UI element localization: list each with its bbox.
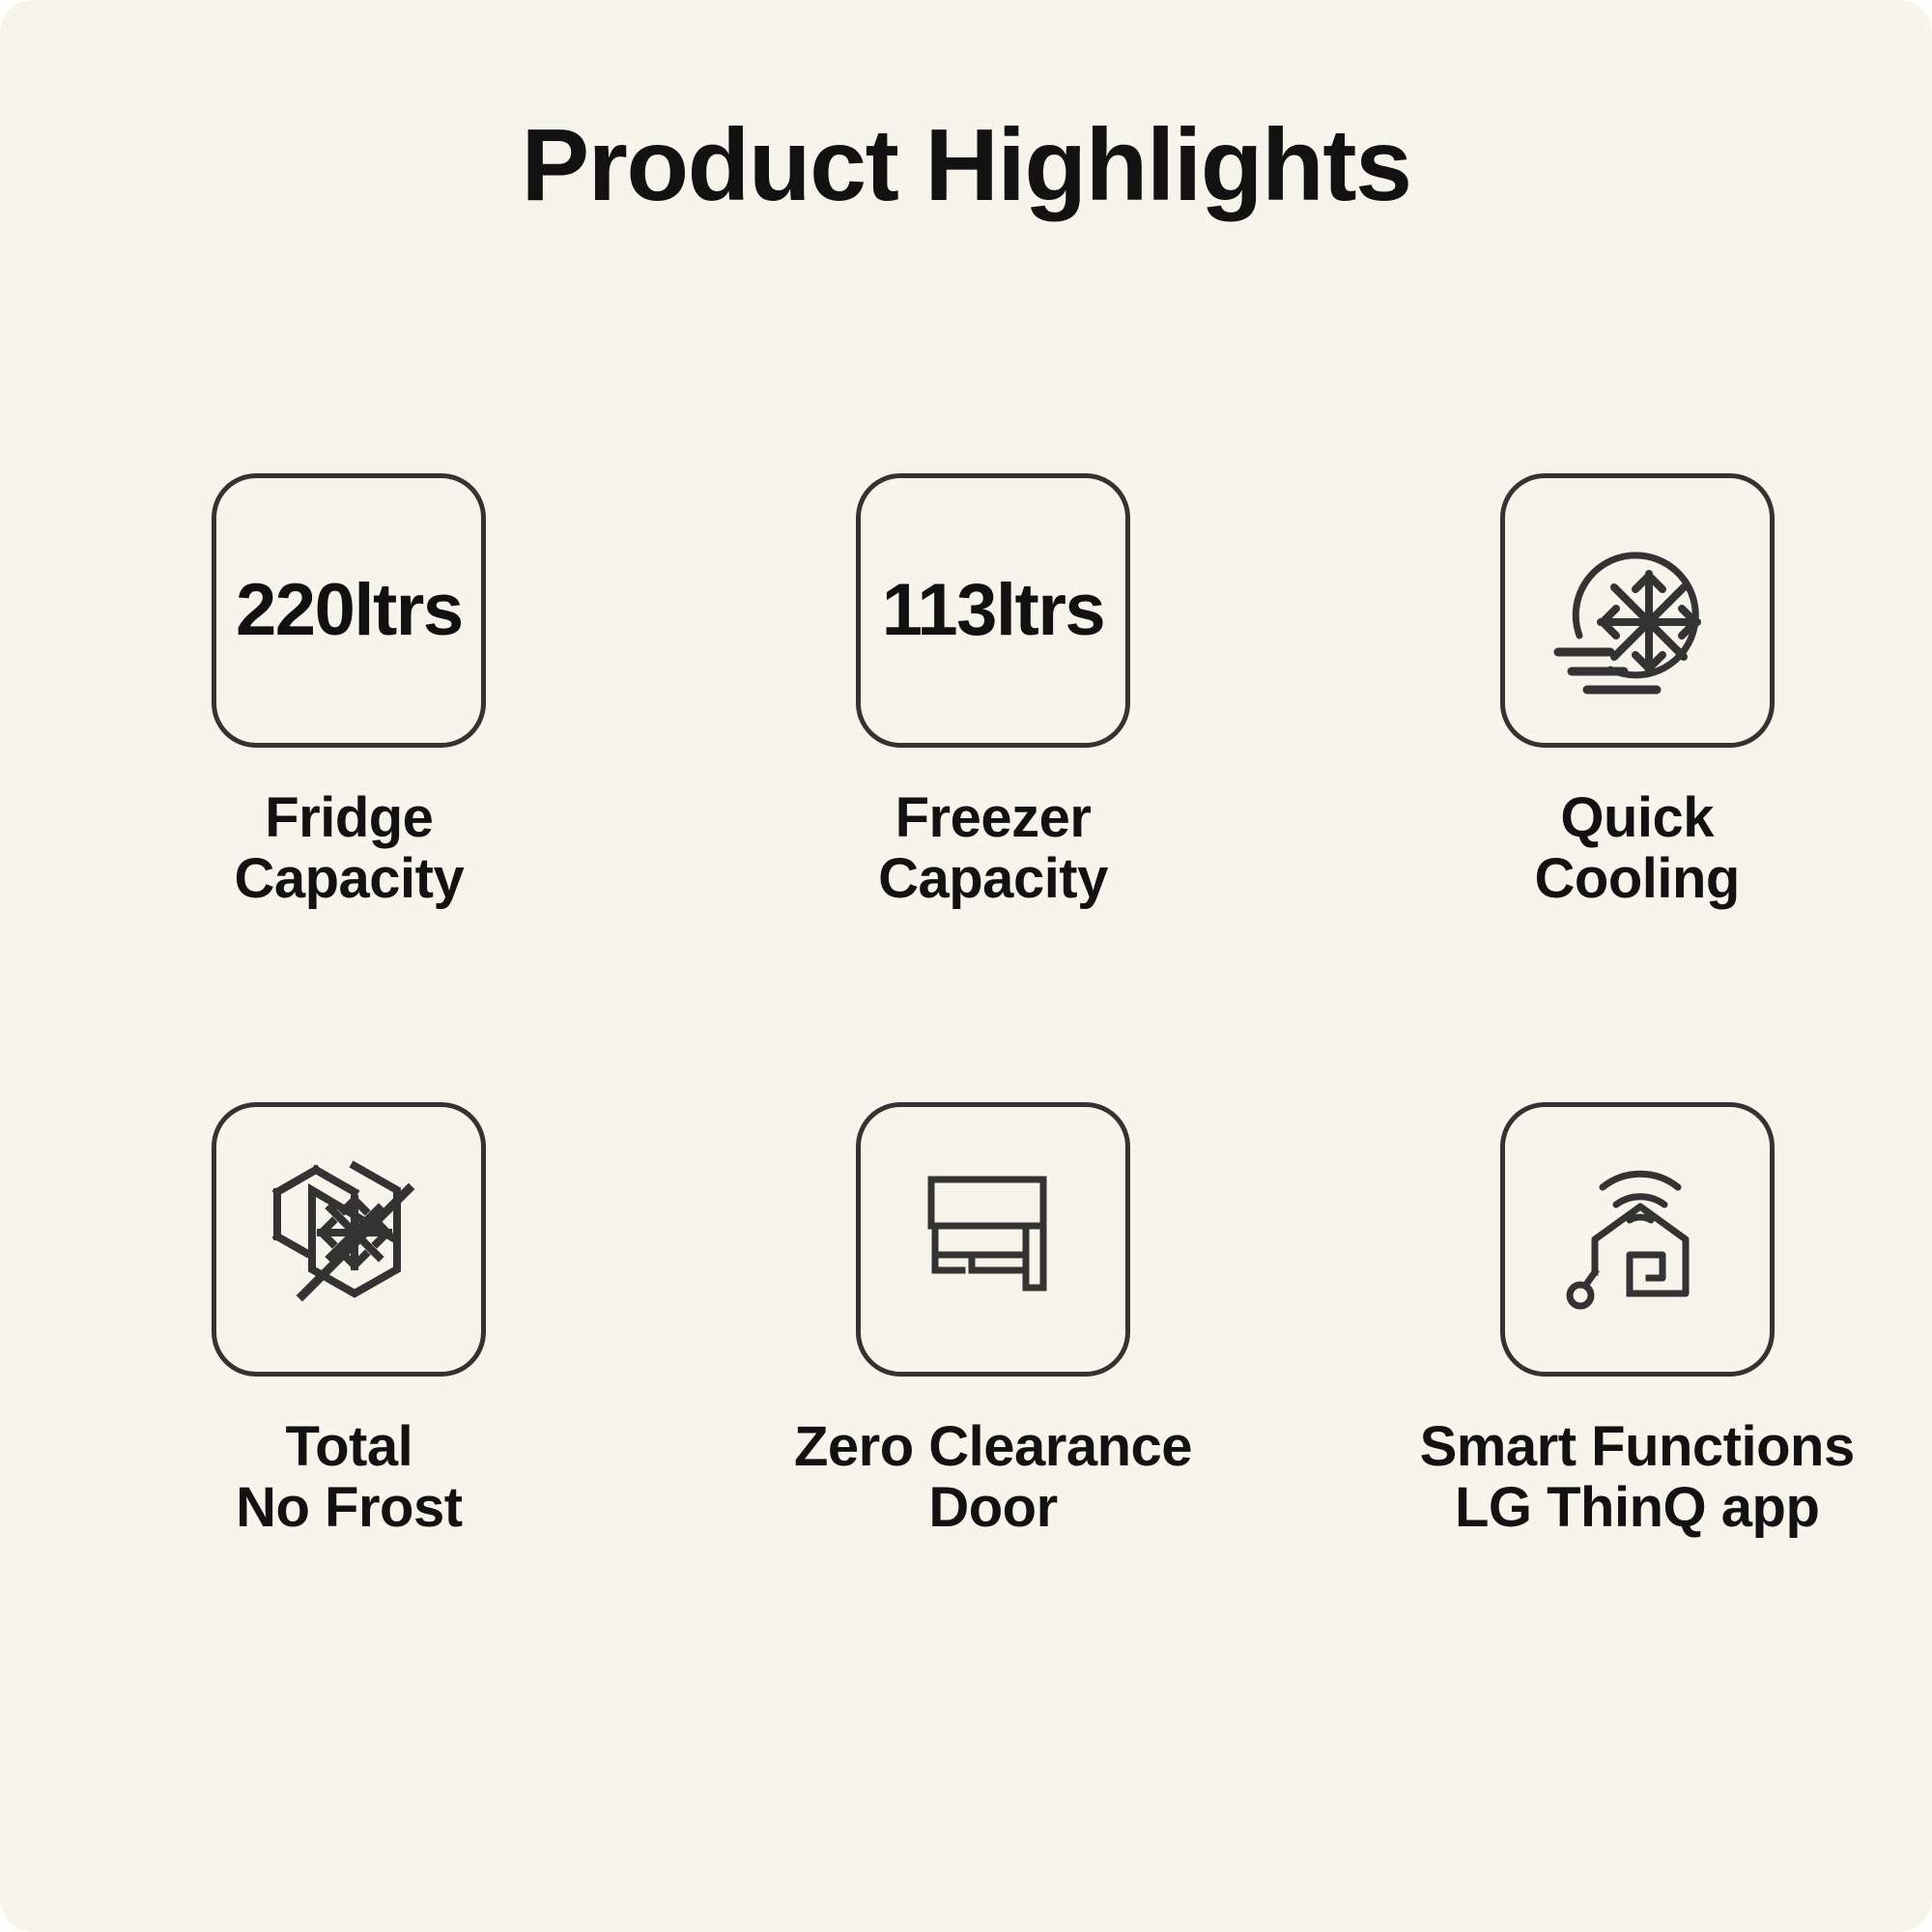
tile-freezer-capacity: 113ltrs [856,473,1130,748]
tile-fridge-capacity: 220ltrs [212,473,486,748]
feature-caption-freezer-capacity: Freezer Capacity [878,788,1108,909]
feature-caption-fridge-capacity: Fridge Capacity [234,788,464,909]
feature-caption-total-no-frost: Total No Frost [236,1417,462,1538]
snowflake-in-circle-with-speed-lines-icon [1541,514,1734,707]
tile-zero-clearance-door [856,1102,1130,1377]
feature-fridge-capacity: 220ltrs Fridge Capacity [54,473,644,909]
feature-total-no-frost: Total No Frost [54,1102,644,1538]
page-title: Product Highlights [0,114,1932,216]
feature-caption-quick-cooling: Quick Cooling [1535,788,1740,909]
feature-quick-cooling: Quick Cooling [1342,473,1932,909]
zero-clearance-door-drawer-icon [896,1143,1090,1336]
tile-smart-functions [1500,1102,1775,1377]
feature-caption-smart-functions: Smart Functions LG ThinQ app [1420,1417,1855,1538]
features-grid: 220ltrs Fridge Capacity 113ltrs Freezer … [0,473,1932,1539]
feature-caption-zero-clearance-door: Zero Clearance Door [794,1417,1192,1538]
no-frost-hexagon-snowflake-slash-icon [252,1143,445,1336]
feature-freezer-capacity: 113ltrs Freezer Capacity [698,473,1289,909]
tile-total-no-frost [212,1102,486,1377]
features-row-2: Total No Frost [0,1102,1932,1538]
fridge-capacity-value: 220ltrs [236,574,463,647]
feature-zero-clearance-door: Zero Clearance Door [698,1102,1289,1538]
smart-home-wifi-icon [1541,1143,1734,1336]
tile-quick-cooling [1500,473,1775,748]
features-row-1: 220ltrs Fridge Capacity 113ltrs Freezer … [0,473,1932,909]
freezer-capacity-value: 113ltrs [882,574,1104,647]
feature-smart-functions: Smart Functions LG ThinQ app [1342,1102,1932,1538]
product-highlights-card: Product Highlights 220ltrs Fridge Capaci… [0,0,1932,1932]
